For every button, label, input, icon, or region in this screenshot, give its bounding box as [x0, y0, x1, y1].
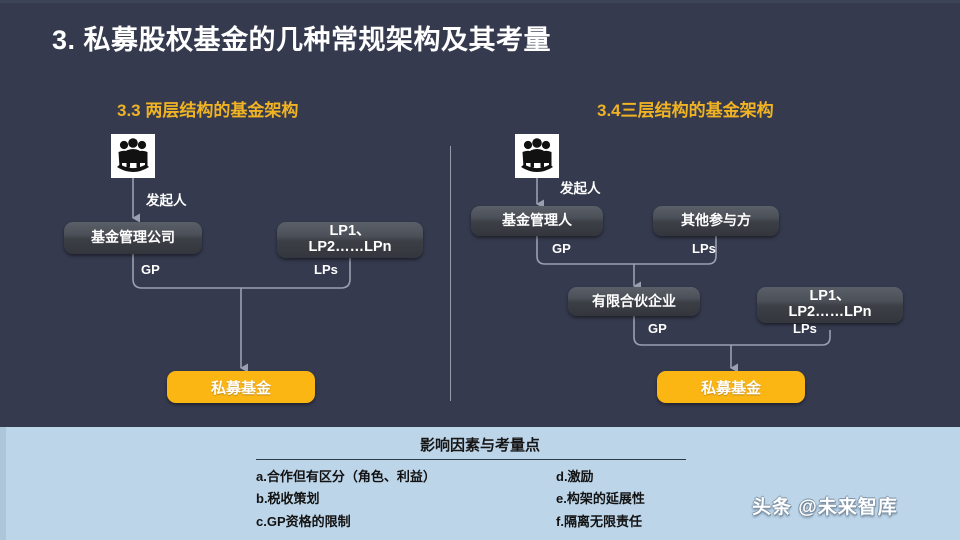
left-edge-label-gp: GP: [141, 262, 160, 277]
considerations-panel: 影响因素与考量点 a.合作但有区分（角色、利益） b.税收策划 c.GP资格的限…: [0, 427, 960, 540]
node-label: 私募基金: [211, 377, 271, 398]
right-edge-label-lps-bottom: LPs: [793, 321, 817, 336]
node-fund-manager[interactable]: 基金管理人: [471, 206, 603, 236]
considerations-column-right: d.激励 e.构架的延展性 f.隔离无限责任: [556, 466, 645, 533]
node-label-line1: LP1、: [809, 289, 850, 305]
people-group-icon: [111, 134, 155, 178]
list-item: c.GP资格的限制: [256, 511, 436, 533]
panel-title: 影响因素与考量点: [0, 434, 960, 455]
left-sponsor-label: 发起人: [146, 189, 187, 209]
list-item: d.激励: [556, 466, 645, 488]
node-limited-partnership[interactable]: 有限合伙企业: [568, 287, 700, 316]
node-fund-left[interactable]: 私募基金: [167, 371, 315, 403]
node-lp-list-right[interactable]: LP1、 LP2……LPn: [757, 287, 903, 323]
panel-divider-rule: [256, 459, 686, 460]
node-label: 基金管理公司: [91, 230, 175, 246]
node-fund-right[interactable]: 私募基金: [657, 371, 805, 403]
node-lp-list-left[interactable]: LP1、 LP2……LPn: [277, 222, 423, 258]
section-heading-right: 3.4三层结构的基金架构: [597, 96, 774, 121]
right-sponsor-label: 发起人: [560, 177, 601, 197]
people-group-icon: [515, 134, 559, 178]
panel-divider: [450, 146, 451, 401]
node-label: 基金管理人: [502, 213, 572, 229]
section-heading-left: 3.3 两层结构的基金架构: [117, 96, 298, 121]
node-label-line2: LP2……LPn: [789, 305, 872, 321]
node-label: 有限合伙企业: [592, 294, 676, 310]
considerations-column-left: a.合作但有区分（角色、利益） b.税收策划 c.GP资格的限制: [256, 466, 436, 533]
list-item: b.税收策划: [256, 488, 436, 510]
right-edge-label-lps-top: LPs: [692, 241, 716, 256]
node-label: 私募基金: [701, 377, 761, 398]
presentation-slide: 3. 私募股权基金的几种常规架构及其考量 3.3 两层结构的基金架构 3.4三层…: [0, 0, 960, 540]
node-label-line2: LP2……LPn: [309, 240, 392, 256]
list-item: f.隔离无限责任: [556, 511, 645, 533]
node-other-parties[interactable]: 其他参与方: [653, 206, 779, 236]
node-mgmt-company[interactable]: 基金管理公司: [64, 222, 202, 254]
node-label: 其他参与方: [681, 213, 751, 229]
list-item: e.构架的延展性: [556, 488, 645, 510]
page-title: 3. 私募股权基金的几种常规架构及其考量: [52, 18, 551, 57]
right-edge-label-gp-bottom: GP: [648, 321, 667, 336]
left-edge-label-lps: LPs: [314, 262, 338, 277]
node-label-line1: LP1、: [329, 224, 370, 240]
watermark: 头条 @未来智库: [752, 492, 898, 519]
list-item: a.合作但有区分（角色、利益）: [256, 466, 436, 488]
top-accent-bar: [0, 0, 960, 3]
right-edge-label-gp-top: GP: [552, 241, 571, 256]
